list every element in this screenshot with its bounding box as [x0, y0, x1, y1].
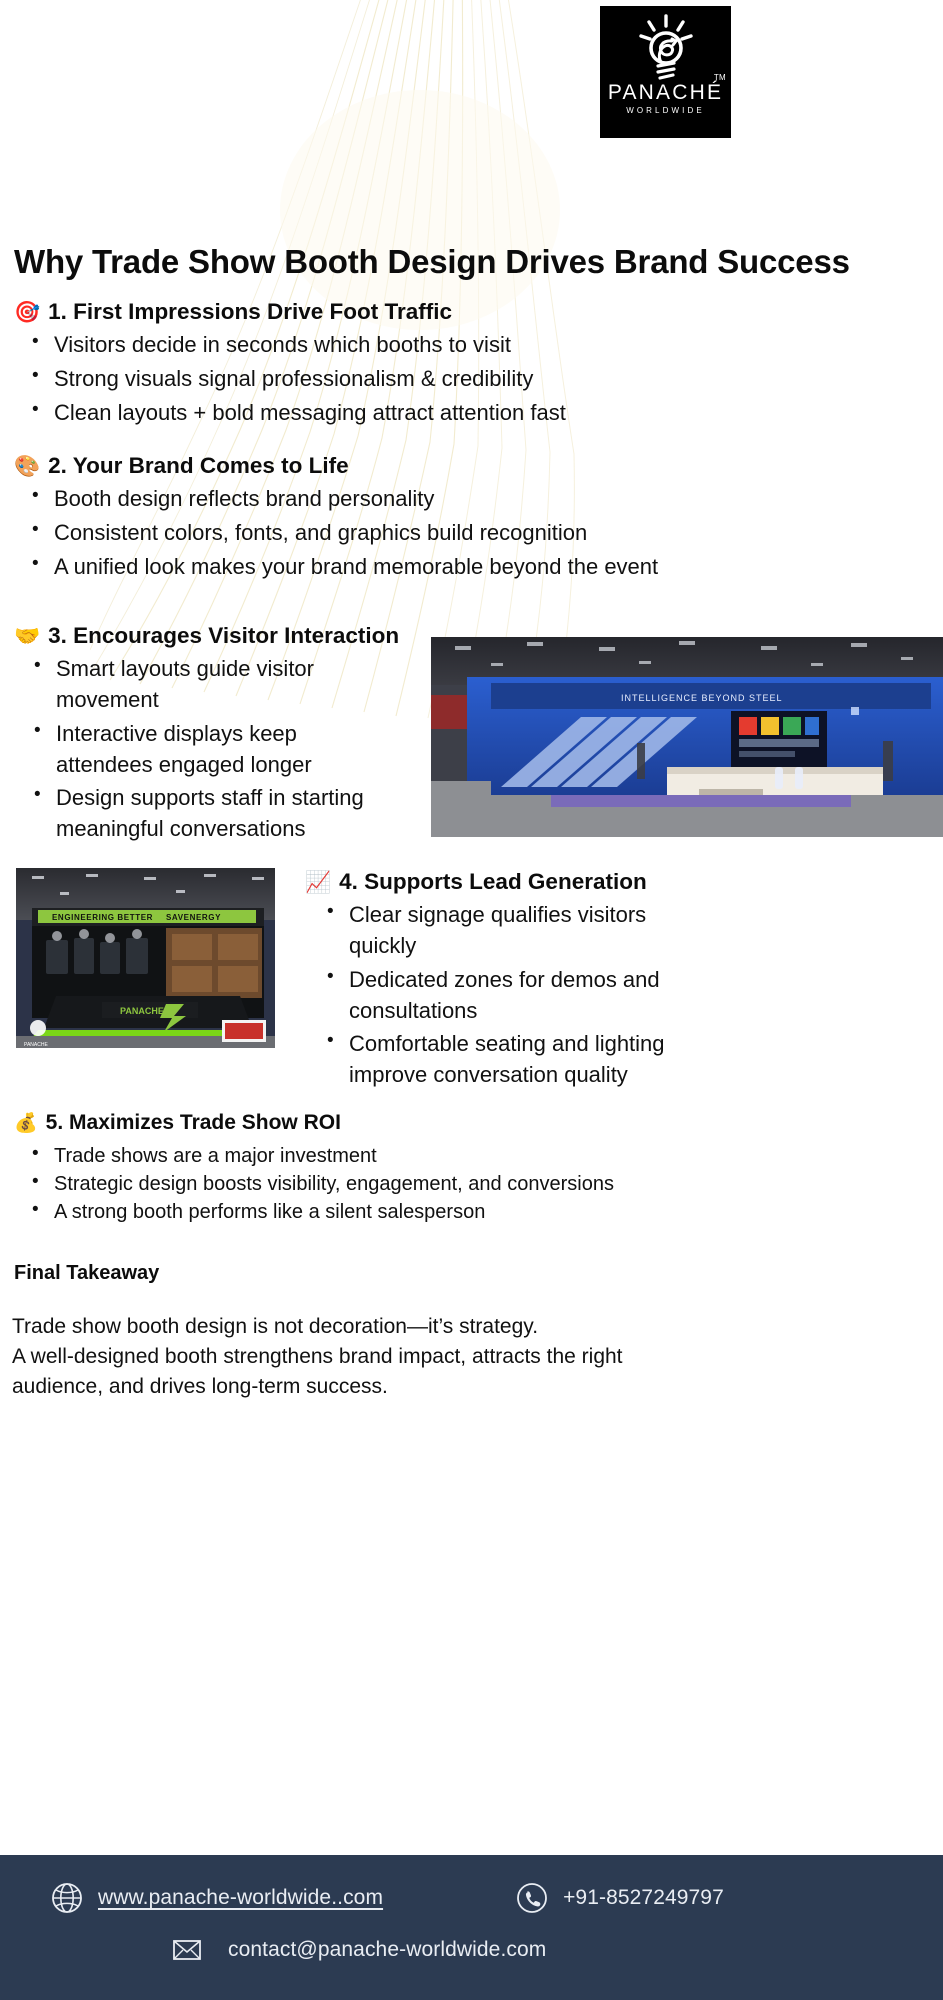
section-4-heading-text: 4. Supports Lead Generation [339, 868, 647, 896]
list-item: Trade shows are a major investment [54, 1142, 774, 1170]
list-item: Interactive displays keep attendees enga… [56, 719, 396, 781]
section-1-heading: 🎯 1. First Impressions Drive Foot Traffi… [14, 298, 714, 326]
section-3-heading: 🤝 3. Encourages Visitor Interaction [14, 622, 434, 650]
section-2-heading-text: 2. Your Brand Comes to Life [48, 452, 348, 480]
footer-email-text[interactable]: contact@panache-worldwide.com [228, 1938, 546, 1962]
footer-website[interactable]: www.panache-worldwide..com [50, 1881, 383, 1915]
section-4-bullets: Clear signage qualifies visitors quickly… [305, 900, 943, 1091]
booth-photo-blue: INTELLIGENCE BEYOND STEEL [431, 637, 943, 837]
section-4: 📈 4. Supports Lead Generation Clear sign… [305, 868, 943, 1094]
footer-website-text[interactable]: www.panache-worldwide..com [98, 1886, 383, 1910]
section-3: 🤝 3. Encourages Visitor Interaction Smar… [14, 622, 434, 848]
svg-text:ENGINEERING BETTER: ENGINEERING BETTER [52, 913, 153, 922]
section-5: 💰 5. Maximizes Trade Show ROI Trade show… [14, 1110, 774, 1226]
list-item: Clean layouts + bold messaging attract a… [54, 398, 714, 429]
infographic-page: TM PANACHÉ WORLDWIDE Why Trade Show Boot… [0, 0, 943, 2000]
footer-phone[interactable]: +91-8527249797 [515, 1881, 724, 1915]
svg-text:PANACHE: PANACHE [120, 1006, 164, 1016]
chart-increasing-icon: 📈 [305, 872, 331, 893]
final-line-1: Trade show booth design is not decoratio… [12, 1312, 712, 1342]
trademark-mark: TM [714, 73, 726, 82]
footer-row-primary: www.panache-worldwide..com +91-852724979… [0, 1881, 943, 1915]
envelope-icon [170, 1933, 204, 1967]
section-1: 🎯 1. First Impressions Drive Foot Traffi… [14, 298, 714, 432]
list-item: Design supports staff in starting meanin… [56, 783, 416, 845]
handshake-icon: 🤝 [14, 626, 40, 647]
final-line-2: A well-designed booth strengthens brand … [12, 1342, 712, 1372]
section-2-heading: 🎨 2. Your Brand Comes to Life [14, 452, 714, 480]
booth-photo-green: ENGINEERING BETTER SAVENERGY PANACHE [14, 866, 277, 1050]
section-4-heading: 📈 4. Supports Lead Generation [305, 868, 943, 896]
section-2: 🎨 2. Your Brand Comes to Life Booth desi… [14, 452, 714, 586]
list-item: Consistent colors, fonts, and graphics b… [54, 518, 714, 549]
footer-phone-text[interactable]: +91-8527249797 [563, 1886, 724, 1910]
section-1-bullets: Visitors decide in seconds which booths … [14, 330, 714, 428]
section-5-heading: 💰 5. Maximizes Trade Show ROI [14, 1110, 774, 1136]
svg-text:INTELLIGENCE BEYOND STEEL: INTELLIGENCE BEYOND STEEL [621, 693, 783, 703]
section-5-heading-text: 5. Maximizes Trade Show ROI [46, 1110, 341, 1136]
logo-subtitle: WORLDWIDE [600, 106, 731, 115]
section-1-heading-text: 1. First Impressions Drive Foot Traffic [48, 298, 452, 326]
footer-contact-bar: www.panache-worldwide..com +91-852724979… [0, 1855, 943, 2000]
brand-logo: TM PANACHÉ WORLDWIDE [600, 6, 731, 138]
list-item: Strategic design boosts visibility, enga… [54, 1170, 774, 1198]
list-item: A unified look makes your brand memorabl… [54, 552, 674, 583]
section-2-bullets: Booth design reflects brand personality … [14, 484, 714, 582]
section-3-heading-text: 3. Encourages Visitor Interaction [48, 622, 399, 650]
section-5-bullets: Trade shows are a major investment Strat… [14, 1142, 774, 1226]
bullseye-icon: 🎯 [14, 302, 40, 323]
list-item: Clear signage qualifies visitors quickly [349, 900, 694, 962]
list-item: Smart layouts guide visitor movement [56, 654, 396, 716]
footer-email[interactable]: contact@panache-worldwide.com [170, 1933, 546, 1967]
list-item: Booth design reflects brand personality [54, 484, 714, 515]
page-title: Why Trade Show Booth Design Drives Brand… [14, 240, 904, 284]
svg-text:SAVENERGY: SAVENERGY [166, 913, 221, 922]
list-item: Comfortable seating and lighting improve… [349, 1029, 724, 1091]
list-item: Strong visuals signal professionalism & … [54, 364, 714, 395]
logo-name: PANACHÉ [600, 82, 731, 103]
section-3-bullets: Smart layouts guide visitor movement Int… [14, 654, 434, 845]
phone-icon [515, 1881, 549, 1915]
list-item: Dedicated zones for demos and consultati… [349, 965, 729, 1027]
money-bag-icon: 💰 [14, 1114, 38, 1133]
final-line-3: audience, and drives long-term success. [12, 1372, 712, 1402]
list-item: Visitors decide in seconds which booths … [54, 330, 714, 361]
artist-palette-icon: 🎨 [14, 456, 40, 477]
final-takeaway-heading: Final Takeaway [14, 1262, 159, 1285]
final-takeaway-body: Trade show booth design is not decoratio… [12, 1312, 712, 1403]
list-item: A strong booth performs like a silent sa… [54, 1198, 774, 1226]
lightbulb-icon [639, 14, 693, 86]
svg-text:PANACHE: PANACHE [24, 1042, 48, 1048]
globe-icon [50, 1881, 84, 1915]
